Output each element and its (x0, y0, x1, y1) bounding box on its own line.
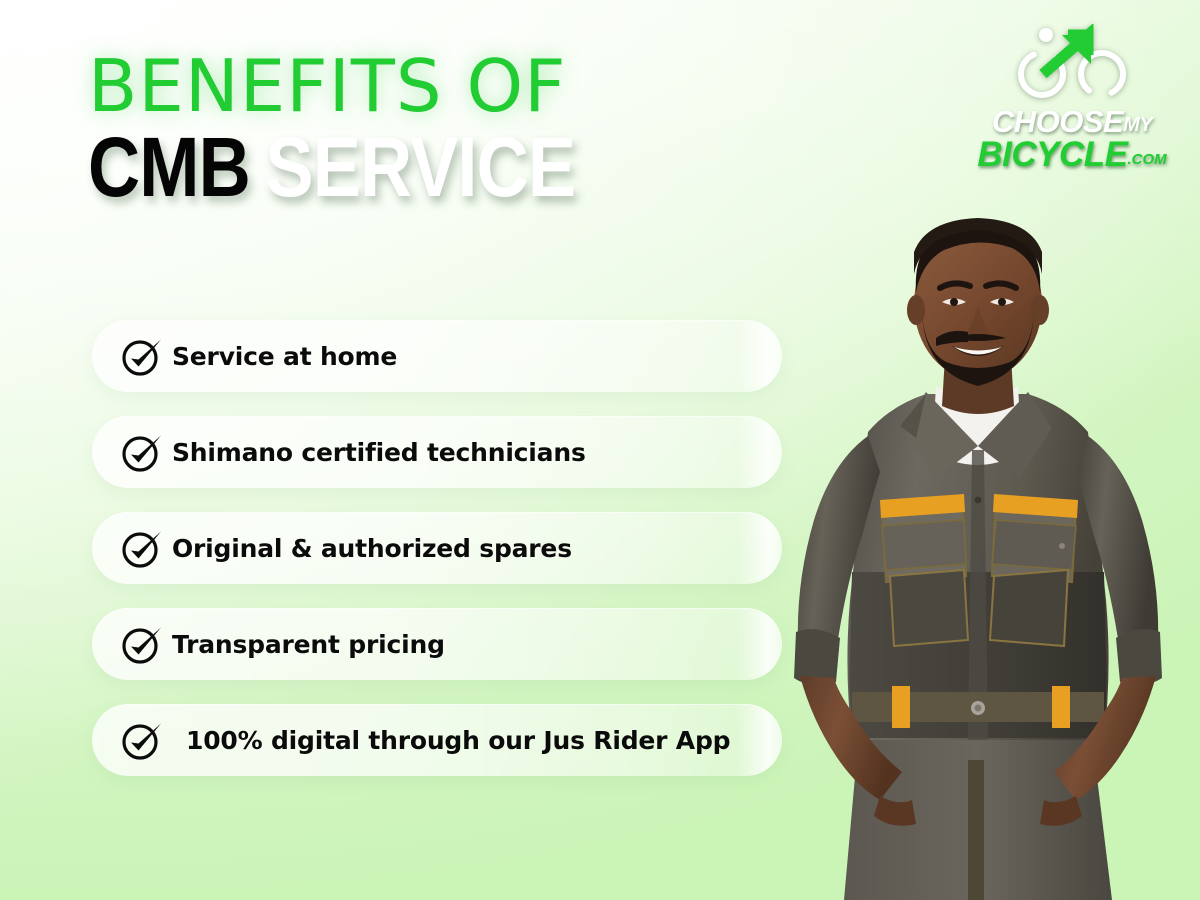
logo-word-choose: CHOOSE (992, 104, 1123, 139)
bicycle-arrow-icon (1016, 24, 1128, 102)
logo-word-my: MY (1123, 114, 1152, 136)
check-circle-icon (120, 334, 164, 378)
logo-text-choose-my: CHOOSEMY (972, 106, 1172, 137)
headline-line-cmb-service: CMBSERVICE (88, 128, 638, 208)
benefit-label: Transparent pricing (172, 630, 445, 659)
logo-word-bicycle: BICYCLE (977, 135, 1127, 174)
check-circle-icon (120, 622, 164, 666)
check-circle-icon (120, 718, 164, 762)
benefit-label: Service at home (172, 342, 397, 371)
brand-logo[interactable]: CHOOSEMY BICYCLE.COM (972, 24, 1172, 174)
headline-word-cmb: CMB (88, 120, 250, 214)
check-circle-icon (120, 430, 164, 474)
poster-canvas: BENEFITS OF CMBSERVICE CHOOSEMY BICYCLE.… (0, 0, 1200, 900)
check-circle-icon (120, 526, 164, 570)
benefit-item[interactable]: Shimano certified technicians (92, 416, 782, 488)
benefit-item[interactable]: Service at home (92, 320, 782, 392)
headline-block: BENEFITS OF CMBSERVICE (88, 52, 728, 208)
benefit-item[interactable]: 100% digital through our Jus Rider App (92, 704, 782, 776)
headline-word-service: SERVICE (265, 120, 575, 214)
benefits-list: Service at home Shimano certified techni… (92, 320, 782, 800)
benefit-item[interactable]: Transparent pricing (92, 608, 782, 680)
headline-line-benefits-of: BENEFITS OF (88, 52, 728, 120)
benefit-label: Shimano certified technicians (172, 438, 586, 467)
logo-text-bicycle-com: BICYCLE.COM (972, 137, 1172, 174)
benefit-label: Original & authorized spares (172, 534, 572, 563)
technician-photo (740, 200, 1200, 900)
benefit-label: 100% digital through our Jus Rider App (186, 726, 730, 755)
logo-word-com: .COM (1127, 151, 1166, 168)
benefit-item[interactable]: Original & authorized spares (92, 512, 782, 584)
